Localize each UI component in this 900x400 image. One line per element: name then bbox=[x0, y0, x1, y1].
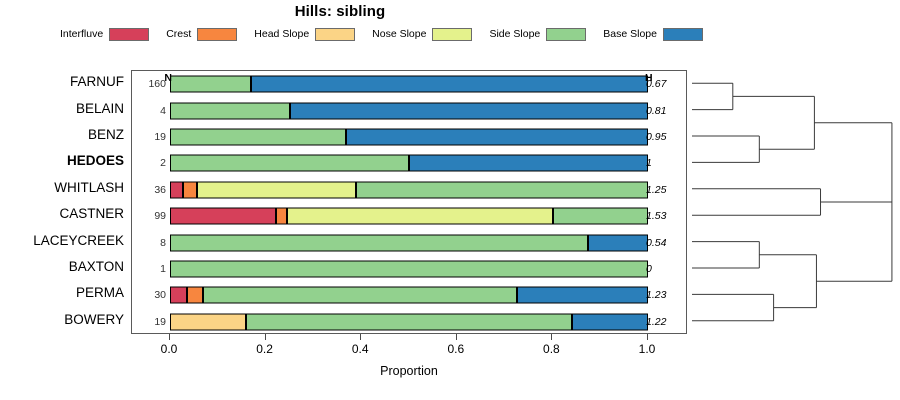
bar-segment[interactable] bbox=[170, 208, 276, 225]
bar-segment[interactable] bbox=[170, 313, 246, 330]
plot-area: 1600.6740.81190.9521361.25991.5380.54103… bbox=[131, 70, 687, 334]
page-title: Hills: sibling bbox=[0, 3, 680, 20]
legend-entry[interactable]: Crest bbox=[166, 28, 237, 41]
x-tick bbox=[265, 334, 266, 340]
row-h-value: 1.53 bbox=[646, 210, 682, 222]
category-label-baxton[interactable]: BAXTON bbox=[0, 259, 124, 274]
bar-segment[interactable] bbox=[170, 287, 187, 304]
chart-root: Hills: sibling InterfluveCrestHead Slope… bbox=[0, 0, 900, 400]
stacked-bar[interactable] bbox=[170, 234, 648, 251]
bar-segment[interactable] bbox=[170, 128, 346, 145]
legend-swatch bbox=[315, 28, 355, 41]
x-tick-label: 0.4 bbox=[337, 342, 383, 356]
bar-segment[interactable] bbox=[356, 181, 648, 198]
row-h-value: 0 bbox=[646, 263, 682, 275]
row-n-value: 30 bbox=[136, 289, 166, 301]
bar-segment[interactable] bbox=[553, 208, 648, 225]
chart-row: 991.53 bbox=[132, 203, 688, 229]
chart-row: 1600.67 bbox=[132, 71, 688, 97]
row-h-value: 0.81 bbox=[646, 105, 682, 117]
x-tick bbox=[169, 334, 170, 340]
legend-label: Head Slope bbox=[254, 28, 309, 40]
category-label-farnuf[interactable]: FARNUF bbox=[0, 74, 124, 89]
row-h-value: 1.22 bbox=[646, 316, 682, 328]
bar-segment[interactable] bbox=[572, 313, 648, 330]
stacked-bar[interactable] bbox=[170, 287, 648, 304]
x-tick bbox=[456, 334, 457, 340]
legend-entry[interactable]: Interfluve bbox=[60, 28, 149, 41]
row-n-value: 99 bbox=[136, 210, 166, 222]
chart-row: 190.95 bbox=[132, 124, 688, 150]
stacked-bar[interactable] bbox=[170, 155, 648, 172]
legend-label: Interfluve bbox=[60, 28, 103, 40]
category-label-perma[interactable]: PERMA bbox=[0, 285, 124, 300]
chart-row: 10 bbox=[132, 256, 688, 282]
category-label-castner[interactable]: CASTNER bbox=[0, 206, 124, 221]
bar-segment[interactable] bbox=[187, 287, 204, 304]
x-tick-label: 0.2 bbox=[242, 342, 288, 356]
row-h-value: 0.95 bbox=[646, 131, 682, 143]
stacked-bar[interactable] bbox=[170, 208, 648, 225]
bar-segment[interactable] bbox=[170, 76, 251, 93]
legend-label: Nose Slope bbox=[372, 28, 426, 40]
column-header-h: H bbox=[645, 72, 681, 84]
chart-row: 80.54 bbox=[132, 229, 688, 255]
category-label-belain[interactable]: BELAIN bbox=[0, 101, 124, 116]
bar-segment[interactable] bbox=[197, 181, 356, 198]
row-n-value: 8 bbox=[136, 237, 166, 249]
row-n-value: 4 bbox=[136, 105, 166, 117]
legend: InterfluveCrestHead SlopeNose SlopeSide … bbox=[60, 25, 760, 43]
row-h-value: 0.54 bbox=[646, 237, 682, 249]
bar-segment[interactable] bbox=[251, 76, 648, 93]
bar-segment[interactable] bbox=[203, 287, 516, 304]
stacked-bar[interactable] bbox=[170, 181, 648, 198]
row-n-value: 2 bbox=[136, 157, 166, 169]
row-h-value: 1.23 bbox=[646, 289, 682, 301]
bar-segment[interactable] bbox=[290, 102, 649, 119]
bar-segment[interactable] bbox=[170, 234, 588, 251]
row-n-value: 19 bbox=[136, 316, 166, 328]
legend-swatch bbox=[663, 28, 703, 41]
bar-segment[interactable] bbox=[246, 313, 573, 330]
chart-row: 40.81 bbox=[132, 97, 688, 123]
legend-label: Side Slope bbox=[489, 28, 540, 40]
chart-row: 301.23 bbox=[132, 282, 688, 308]
row-n-value: 19 bbox=[136, 131, 166, 143]
legend-label: Base Slope bbox=[603, 28, 657, 40]
x-tick-label: 0.6 bbox=[433, 342, 479, 356]
stacked-bar[interactable] bbox=[170, 76, 648, 93]
bar-segment[interactable] bbox=[588, 234, 648, 251]
bar-segment[interactable] bbox=[346, 128, 648, 145]
legend-entry[interactable]: Head Slope bbox=[254, 28, 355, 41]
row-h-value: 1.25 bbox=[646, 184, 682, 196]
column-header-n: N bbox=[142, 72, 172, 84]
x-tick bbox=[647, 334, 648, 340]
bar-segment[interactable] bbox=[170, 155, 409, 172]
legend-entry[interactable]: Side Slope bbox=[489, 28, 586, 41]
dendrogram-svg bbox=[690, 70, 900, 334]
bar-segment[interactable] bbox=[409, 155, 648, 172]
row-n-value: 36 bbox=[136, 184, 166, 196]
x-axis-title: Proportion bbox=[131, 364, 687, 378]
stacked-bar[interactable] bbox=[170, 102, 648, 119]
category-label-benz[interactable]: BENZ bbox=[0, 127, 124, 142]
x-tick-label: 1.0 bbox=[624, 342, 670, 356]
row-n-value: 1 bbox=[136, 263, 166, 275]
chart-row: 191.22 bbox=[132, 309, 688, 335]
category-label-bowery[interactable]: BOWERY bbox=[0, 312, 124, 327]
stacked-bar[interactable] bbox=[170, 128, 648, 145]
chart-row: 21 bbox=[132, 150, 688, 176]
x-tick bbox=[551, 334, 552, 340]
legend-swatch bbox=[109, 28, 149, 41]
stacked-bar[interactable] bbox=[170, 260, 648, 277]
bar-segment[interactable] bbox=[170, 260, 648, 277]
x-tick-label: 0.0 bbox=[146, 342, 192, 356]
x-tick-label: 0.8 bbox=[528, 342, 574, 356]
bar-segment[interactable] bbox=[276, 208, 287, 225]
category-label-laceycreek[interactable]: LACEYCREEK bbox=[0, 233, 124, 248]
category-label-whitlash[interactable]: WHITLASH bbox=[0, 180, 124, 195]
chart-row: 361.25 bbox=[132, 177, 688, 203]
dendrogram bbox=[690, 70, 900, 334]
legend-swatch bbox=[432, 28, 472, 41]
bar-segment[interactable] bbox=[287, 208, 553, 225]
bar-segment[interactable] bbox=[170, 181, 183, 198]
category-label-hedoes[interactable]: HEDOES bbox=[0, 153, 124, 168]
x-tick bbox=[360, 334, 361, 340]
stacked-bar[interactable] bbox=[170, 313, 648, 330]
bar-segment[interactable] bbox=[517, 287, 648, 304]
legend-entry[interactable]: Nose Slope bbox=[372, 28, 472, 41]
bar-segment[interactable] bbox=[183, 181, 196, 198]
bar-segment[interactable] bbox=[170, 102, 290, 119]
legend-entry[interactable]: Base Slope bbox=[603, 28, 703, 41]
legend-label: Crest bbox=[166, 28, 191, 40]
legend-swatch bbox=[197, 28, 237, 41]
legend-swatch bbox=[546, 28, 586, 41]
row-h-value: 1 bbox=[646, 157, 682, 169]
